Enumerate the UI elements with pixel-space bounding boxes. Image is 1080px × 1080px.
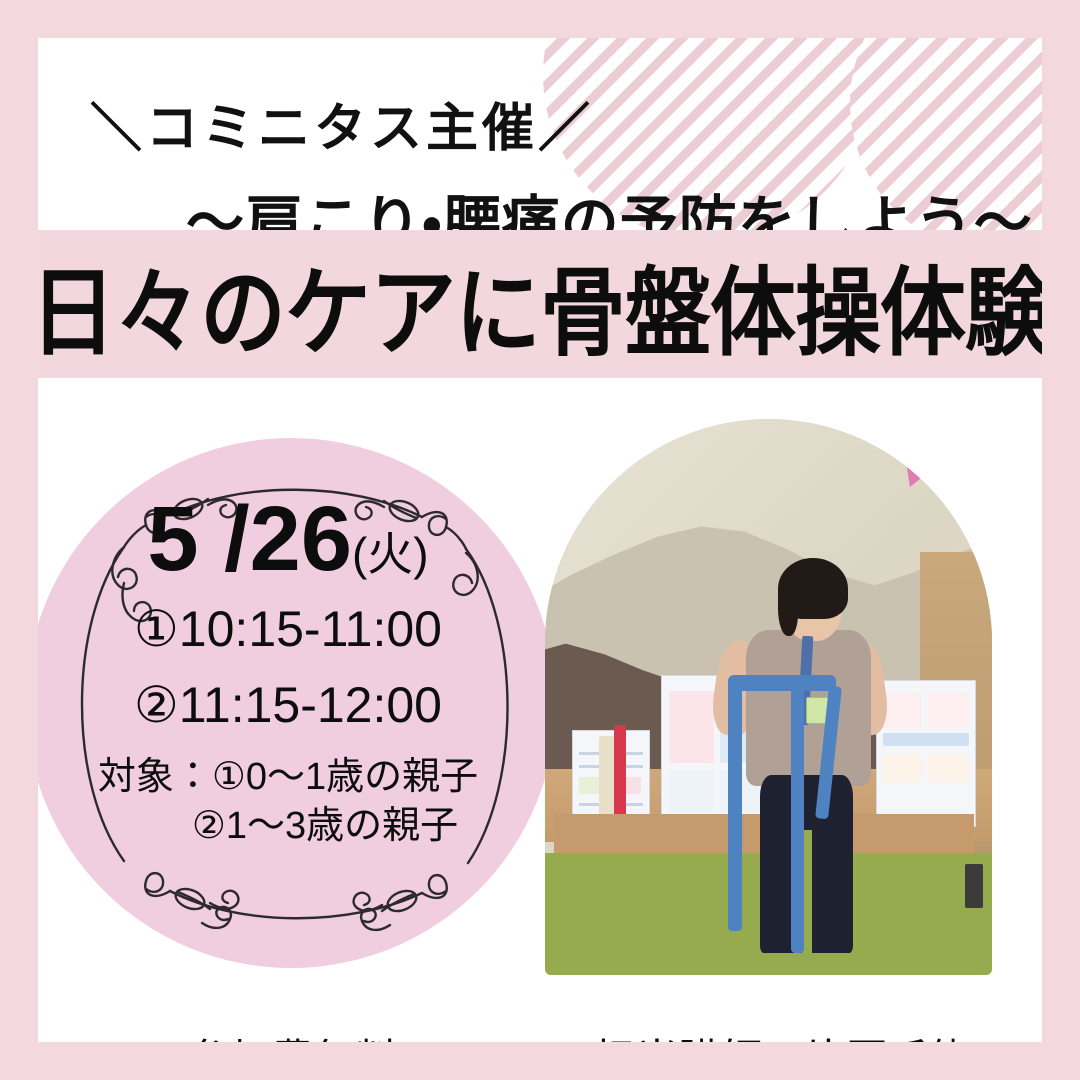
target-audience-group: 対象：①0〜1歳の親子 ②1〜3歳の親子 — [38, 753, 538, 852]
fee-note: ー参加費無料ー — [38, 1026, 548, 1042]
photo-resistance-band-top — [728, 675, 835, 692]
photo-speaker — [965, 864, 983, 908]
event-flyer-poster: ＼コミニタス主催／ ～肩こり・腰痛の予防をしよう～ 日々のケアに骨盤体操体験 — [0, 0, 1080, 1080]
event-info-block: 5 /26(火) ①10:15-11:00 ②11:15-12:00 対象：①0… — [38, 493, 538, 852]
session-time-1: ①10:15-11:00 — [38, 597, 538, 661]
event-date-number: 5 /26 — [147, 488, 352, 590]
organizer-headline: ＼コミニタス主催／ — [90, 86, 594, 161]
session-time-2: ②11:15-12:00 — [38, 673, 538, 737]
photo-resistance-band-left — [728, 680, 741, 930]
main-title-band: 日々のケアに骨盤体操体験 — [38, 230, 1042, 378]
target-audience-2: ②1〜3歳の親子 — [38, 802, 538, 851]
photo-person-hair-side — [778, 580, 798, 636]
photo-resistance-band-center — [791, 680, 804, 952]
event-day-of-week: (火) — [352, 528, 429, 580]
lecturer-photo — [545, 419, 992, 975]
event-date: 5 /26(火) — [38, 493, 538, 585]
pink-triangle-accent-icon — [896, 431, 992, 511]
page-title: 日々のケアに骨盤体操体験 — [38, 234, 1042, 374]
flyer-canvas: ＼コミニタス主催／ ～肩こり・腰痛の予防をしよう～ 日々のケアに骨盤体操体験 — [38, 38, 1042, 1042]
lecturer-name-note: 担当講師：片岡千紘 — [548, 1026, 1018, 1042]
photo-poster-anatomy — [876, 680, 976, 827]
target-audience-1: 対象：①0〜1歳の親子 — [38, 753, 538, 802]
